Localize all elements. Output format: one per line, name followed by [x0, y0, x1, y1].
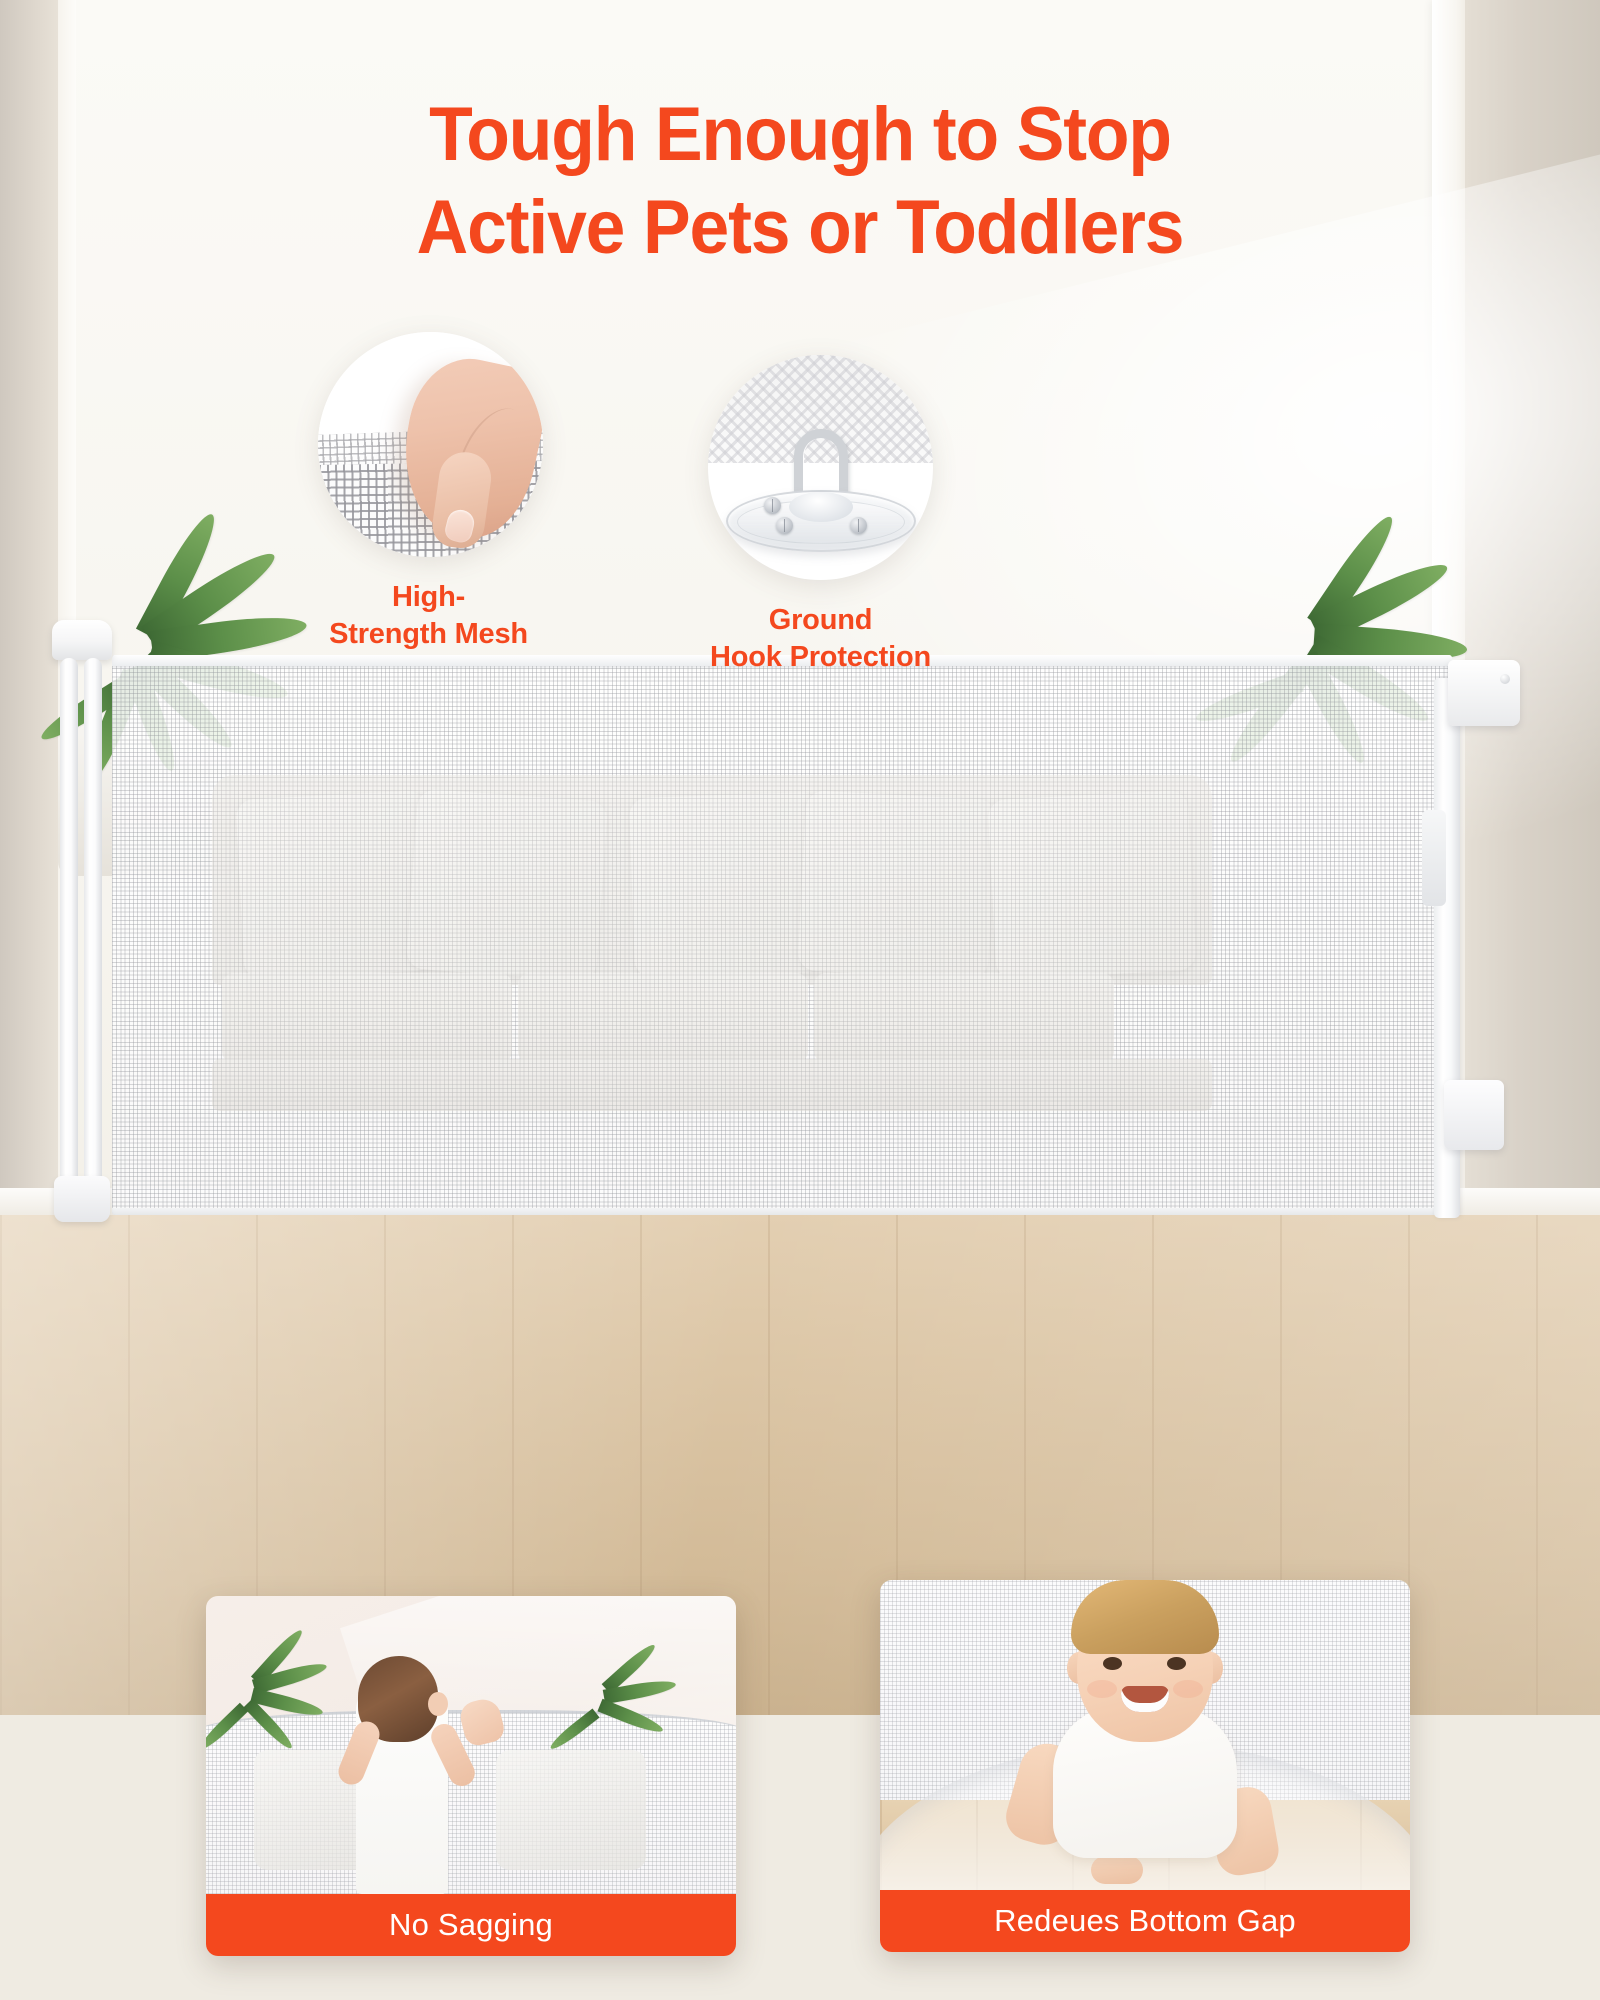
inset-card-no-sagging: No Sagging: [206, 1596, 736, 1956]
sofa-base: [212, 1059, 1212, 1111]
sofa-behind-mesh: [112, 655, 1452, 1215]
hook-center-boss: [789, 492, 853, 522]
palm-frond: [597, 1699, 665, 1737]
sofa-seat: [814, 973, 1114, 1063]
sofa-seat: [518, 973, 808, 1063]
sofa-cushion: [987, 790, 1196, 980]
baby-foot: [1091, 1856, 1143, 1884]
callout-caption-line-1: High-: [314, 579, 543, 616]
baby-figure: [995, 1584, 1295, 1884]
sofa-cushion: [235, 790, 434, 980]
inset-caption-no-sagging: No Sagging: [206, 1894, 736, 1956]
headline-line-2: Active Pets or Toddlers: [48, 181, 1552, 274]
product-feature-image: Tough Enough to Stop Active Pets or Todd…: [0, 0, 1600, 2000]
pull-handle-tab[interactable]: [1422, 810, 1446, 906]
post-base-foot: [54, 1176, 110, 1222]
gate-right-latch-assembly[interactable]: [1430, 660, 1530, 1220]
sofa-cushion: [797, 790, 996, 980]
inset-plant-left: [214, 1636, 364, 1756]
wall-bracket-icon[interactable]: [1448, 660, 1520, 726]
callout-caption: Ground Hook Protection: [708, 602, 933, 676]
baby-eye: [1103, 1657, 1122, 1670]
callout-ground-hook-protection: Ground Hook Protection: [708, 355, 933, 676]
post-top-cap: [52, 620, 112, 660]
callout-caption-line-2: Hook Protection: [708, 639, 933, 676]
headline-line-1: Tough Enough to Stop: [48, 88, 1552, 181]
inset-card-reduces-bottom-gap: Redeues Bottom Gap: [880, 1580, 1410, 1952]
gate-left-mounting-post: [52, 620, 112, 1220]
headline: Tough Enough to Stop Active Pets or Todd…: [0, 88, 1600, 274]
latch-clip[interactable]: [1444, 1080, 1504, 1150]
callout-caption-line-2: Strength Mesh: [314, 616, 543, 653]
fingernail: [443, 507, 477, 545]
screw-icon: [776, 517, 793, 534]
baby-smile: [1121, 1686, 1169, 1712]
retractable-mesh-panel: [112, 655, 1452, 1215]
callout-high-strength-mesh: High- Strength Mesh: [318, 332, 543, 653]
sofa-seat: [222, 973, 512, 1063]
inset-photo-toddler-pushing-mesh: [206, 1596, 736, 1894]
baby-hair: [1071, 1580, 1219, 1654]
hand-pulling-mesh-icon: [318, 332, 543, 557]
inset-caption-reduces-bottom-gap: Redeues Bottom Gap: [880, 1890, 1410, 1952]
callout-caption: High- Strength Mesh: [314, 579, 543, 653]
post-rod: [84, 658, 102, 1218]
screw-icon: [764, 497, 781, 514]
toddler-ear: [428, 1692, 448, 1716]
baby-cheek: [1173, 1680, 1203, 1698]
inset-photo-baby-at-bottom-gap: [880, 1580, 1410, 1890]
baby-eye: [1167, 1657, 1186, 1670]
ground-hook-anchor-icon: [708, 355, 933, 580]
sofa-cushion: [406, 789, 608, 982]
baby-cheek: [1087, 1680, 1117, 1698]
callout-caption-line-1: Ground: [708, 602, 933, 639]
screw-icon: [850, 517, 867, 534]
post-rod: [60, 658, 78, 1218]
inset-plant-right: [582, 1652, 732, 1772]
sofa-cushion: [629, 792, 825, 979]
